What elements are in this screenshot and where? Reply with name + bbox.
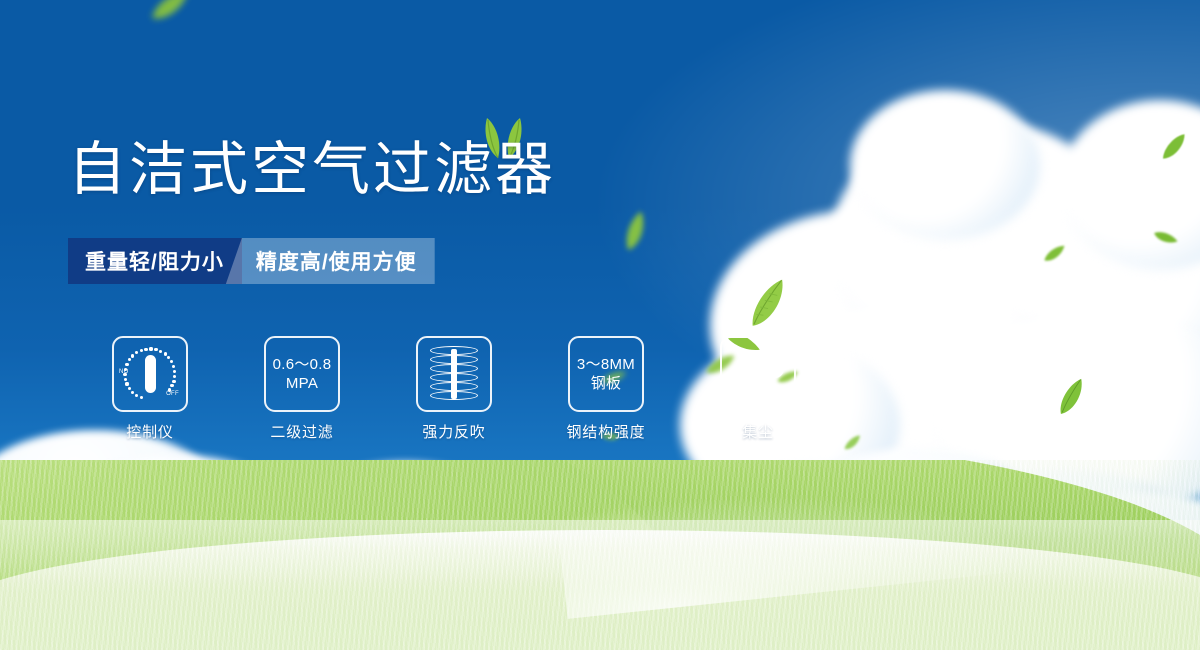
green-meadow-field [0,460,1200,650]
subtitle-bar: 重量轻/阻力小 精度高/使用方便 [68,238,435,284]
feature-icon-box: NO OFF [112,336,188,412]
feature-icon-box: Air [720,336,796,412]
feature-label: 强力反吹 [422,421,485,442]
feature-icon-box: 3～8MM 钢板 [568,336,644,412]
feature-icon-box: 0.6～0.8 MPA [264,336,340,412]
feature-item-backblow[interactable]: 强力反吹 [380,336,528,442]
feature-item-secondary-filter[interactable]: 0.6～0.8 MPA 二级过滤 [228,336,376,442]
page-title: 自洁式空气过滤器 [68,138,556,202]
gauge-dial-icon: NO OFF [118,342,182,406]
subtitle-right: 精度高/使用方便 [226,238,435,284]
pressure-text-icon: 0.6～0.8 MPA [273,355,332,393]
feature-item-dust-collection[interactable]: Air 集尘 [684,336,832,442]
feature-label: 控制仪 [126,421,173,442]
feature-item-steel-strength[interactable]: 3～8MM 钢板 钢结构强度 [532,336,680,442]
feature-label: 钢结构强度 [566,421,645,442]
feature-label: 集尘 [742,421,774,442]
steel-plate-text-icon: 3～8MM 钢板 [577,355,635,393]
coil-spring-icon [430,346,478,402]
subtitle-left: 重量轻/阻力小 [68,238,242,284]
air-cloud-icon: Air [728,348,788,400]
product-banner: 自洁式空气过滤器 重量轻/阻力小 精度高/使用方便 NO OFF 控制仪 0.6… [0,0,1200,650]
feature-icon-box [416,336,492,412]
feature-label: 二级过滤 [270,421,333,442]
feature-item-controller[interactable]: NO OFF 控制仪 [76,336,224,442]
air-label: Air [728,387,788,401]
gauge-label-off: OFF [166,391,179,397]
feature-list: NO OFF 控制仪 0.6～0.8 MPA 二级过滤 强力反吹 [76,336,832,442]
